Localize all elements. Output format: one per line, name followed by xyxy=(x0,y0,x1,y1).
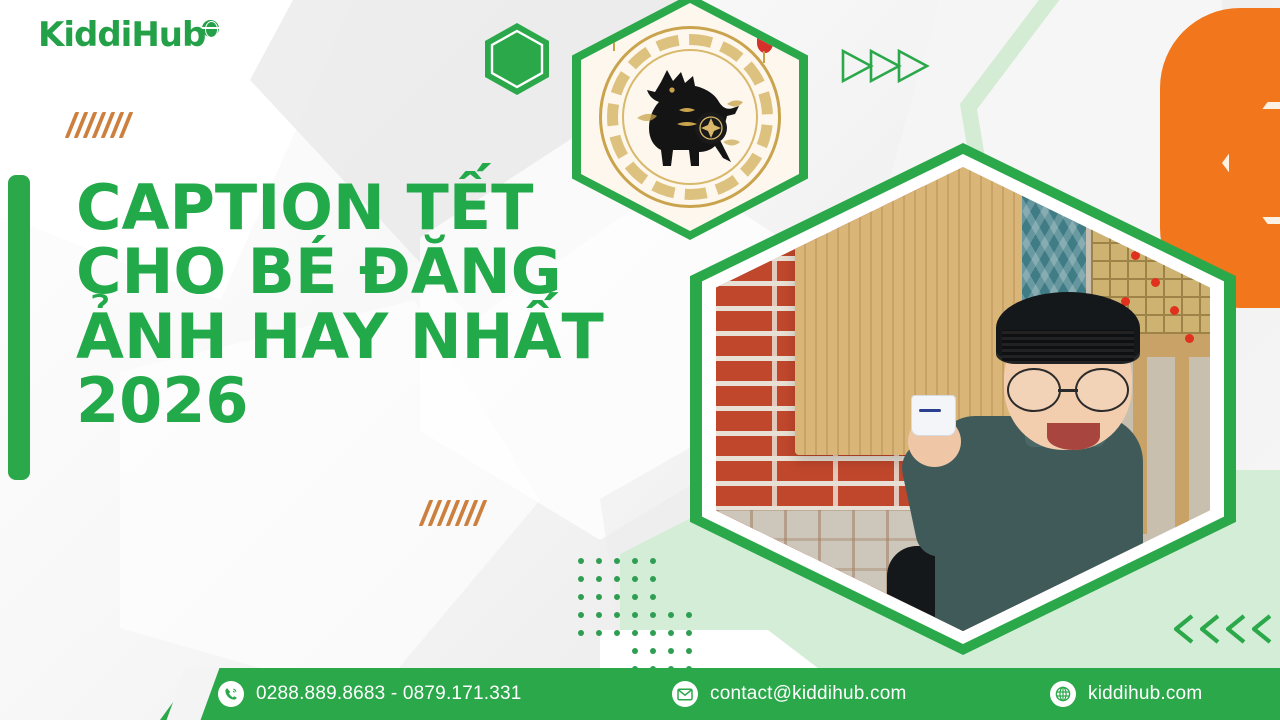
phone-icon xyxy=(218,681,244,707)
khan-dong-hat xyxy=(996,292,1140,364)
globe-icon xyxy=(202,20,219,37)
contact-footer: 0288.889.8683 - 0879.171.331 contact@kid… xyxy=(0,664,1280,720)
poster-canvas: KiddiHub CAPTION TẾT CHO BÉ ĐĂNG ẢNH HAY… xyxy=(0,0,1280,720)
footer-website-label: kiddihub.com xyxy=(1088,683,1202,705)
footer-website[interactable]: kiddihub.com xyxy=(1050,681,1202,707)
brand-logo[interactable]: KiddiHub xyxy=(38,18,219,52)
diagonal-slash-group xyxy=(424,500,482,526)
glasses-icon xyxy=(1007,368,1130,413)
footer-phone-label: 0288.889.8683 - 0879.171.331 xyxy=(256,683,522,705)
footer-phone[interactable]: 0288.889.8683 - 0879.171.331 xyxy=(218,681,522,707)
green-hexagon-icon xyxy=(484,22,550,96)
title-line-3: ẢNH HAY NHẤT xyxy=(76,305,676,369)
mail-icon xyxy=(672,681,698,707)
title-line-4: 2026 xyxy=(76,369,676,433)
footer-email[interactable]: contact@kiddihub.com xyxy=(672,681,907,707)
diagonal-slash-group xyxy=(70,112,128,138)
title-line-2: CHO BÉ ĐĂNG xyxy=(76,240,676,304)
child-figure xyxy=(919,292,1186,631)
globe-icon xyxy=(1050,681,1076,707)
hexagon-photo-frame xyxy=(690,143,1236,655)
tea-cup xyxy=(911,395,956,436)
right-triangle-icon xyxy=(896,48,930,84)
brand-name: KiddiHub xyxy=(38,18,205,52)
triple-right-triangle-icon xyxy=(840,48,924,84)
green-accent-bar xyxy=(8,175,30,480)
footer-email-label: contact@kiddihub.com xyxy=(710,683,907,705)
